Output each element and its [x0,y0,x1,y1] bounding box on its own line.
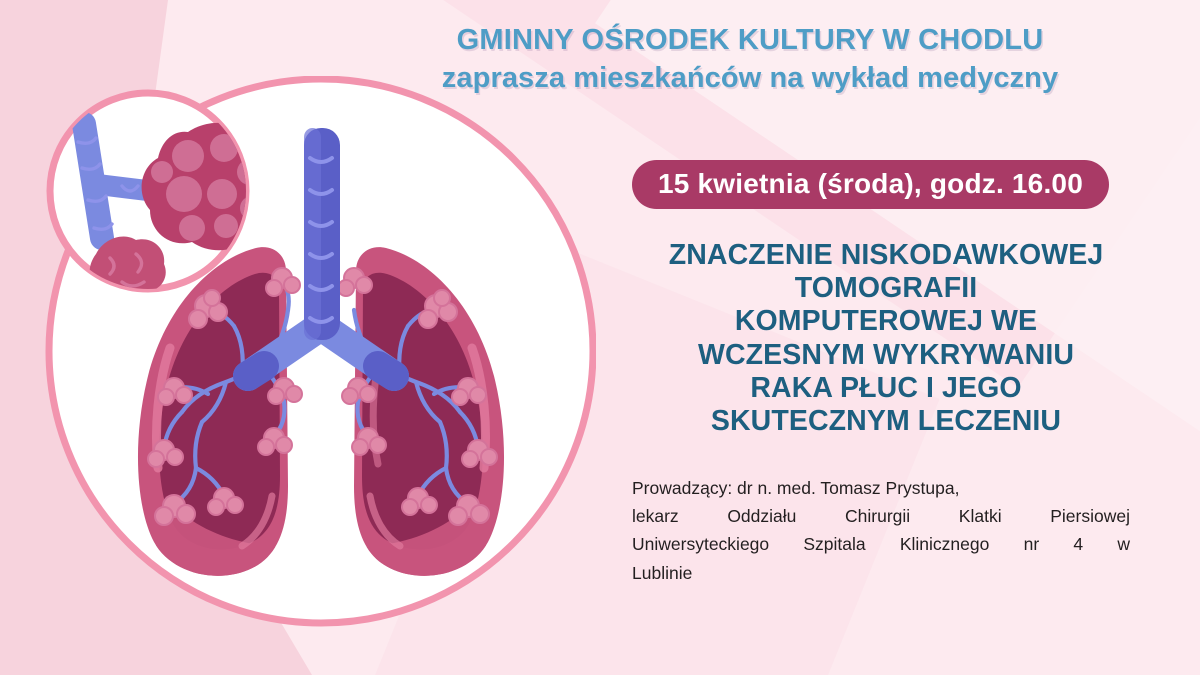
lecture-title: ZNACZENIE NISKODAWKOWEJ TOMOGRAFII KOMPU… [632,239,1140,437]
presenter-line: lekarz Oddziału Chirurgii Klatki Piersio… [632,502,1130,530]
presenter-line: Uniwersyteckiego Szpitala Klinicznego nr… [632,530,1130,558]
lecture-title-line: ZNACZENIE NISKODAWKOWEJ [632,239,1140,272]
right-column: 15 kwietnia (środa), godz. 16.00 ZNACZEN… [632,160,1140,587]
presenter-line: Prowadzący: dr n. med. Tomasz Prystupa, [632,474,1130,502]
bronchus-right-tip [378,366,394,376]
lecture-title-line: WCZESNYM WYKRYWANIU [632,339,1140,372]
lungs-illustration [36,76,596,636]
lecture-title-line: RAKA PŁUC I JEGO [632,372,1140,405]
lecture-title-line: KOMPUTEROWEJ WE [632,305,1140,338]
poster-root: GMINNY OŚRODEK KULTURY W CHODLU zaprasza… [0,0,1200,675]
presenter-details: Prowadzący: dr n. med. Tomasz Prystupa, … [632,474,1130,587]
header: GMINNY OŚRODEK KULTURY W CHODLU zaprasza… [300,24,1200,95]
bronchus-left-tip [248,366,264,376]
presenter-line: Lublinie [632,559,1130,587]
date-banner: 15 kwietnia (środa), godz. 16.00 [632,160,1109,209]
header-line-2: zaprasza mieszkańców na wykład medyczny [300,62,1200,95]
lecture-title-line: SKUTECZNYM LECZENIU [632,405,1140,438]
lecture-title-line: TOMOGRAFII [632,272,1140,305]
header-line-1: GMINNY OŚRODEK KULTURY W CHODLU [300,24,1200,57]
